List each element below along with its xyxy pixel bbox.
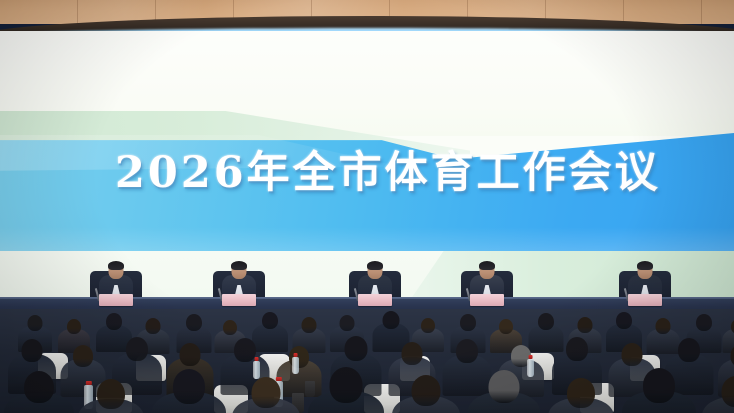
led-backdrop-screen [0, 31, 734, 251]
audience-member-head [301, 317, 316, 333]
audience-member-head [234, 338, 256, 362]
audience-member-head [73, 345, 93, 367]
panelist-hair [231, 261, 247, 270]
audience-member-head [655, 318, 670, 334]
audience-member-head [421, 318, 435, 333]
audience-area [0, 309, 734, 413]
audience-member [548, 378, 614, 413]
name-placard-1 [99, 294, 133, 306]
audience-member-head [577, 317, 592, 333]
audience-member [622, 368, 696, 413]
screen-bottom-glow [0, 227, 734, 251]
audience-member [78, 379, 144, 413]
audience-member-head [330, 367, 363, 403]
audience-member-head [252, 377, 281, 408]
water-bottle [292, 357, 299, 374]
audience-member-head [643, 368, 675, 403]
audience-member-head [179, 343, 200, 366]
name-placard-4 [470, 294, 504, 306]
audience-member-head [223, 320, 237, 335]
conference-photo: 2026年全市体育工作会议 [0, 0, 734, 413]
audience-member-head [456, 339, 478, 363]
audience-member-head [186, 314, 202, 331]
audience-member-head [567, 378, 595, 408]
audience-member-head [489, 370, 520, 403]
audience-member [152, 369, 226, 413]
audience-member-head [22, 339, 43, 362]
audience-member-head [262, 312, 278, 329]
panelist-hair [108, 261, 124, 270]
audience-member-head [696, 314, 712, 331]
name-placard-5 [628, 294, 662, 306]
audience-member [232, 377, 300, 413]
audience-member [468, 370, 540, 413]
audience-member-head [97, 379, 125, 409]
audience-member-head [566, 337, 588, 361]
audience-member-head [106, 313, 122, 330]
conference-title: 2026年全市体育工作会议 [115, 152, 661, 195]
audience-member-head [678, 338, 700, 362]
audience-member-head [621, 343, 642, 366]
name-placard-3 [358, 294, 392, 306]
audience-member-head [126, 337, 148, 361]
panelist-hair [479, 261, 495, 270]
audience-member-head [412, 375, 441, 406]
audience-member-head [67, 319, 81, 334]
audience-member-head [145, 318, 160, 334]
audience-member [4, 371, 74, 413]
name-placard-2 [222, 294, 256, 306]
audience-member-head [340, 315, 355, 331]
audience-member-head [460, 314, 476, 331]
audience-member [308, 367, 384, 413]
panelist-hair [367, 261, 383, 270]
audience-member-head [382, 311, 399, 329]
audience-member-head [173, 369, 205, 404]
audience-member-head [616, 312, 632, 329]
audience-member [702, 376, 734, 413]
audience-member-head [344, 336, 367, 361]
audience-member-head [24, 371, 54, 403]
audience-member [392, 375, 460, 413]
panelist-hair [637, 261, 653, 270]
audience-member-head [401, 342, 422, 365]
audience-member-head [538, 313, 554, 330]
audience-member-head [499, 319, 513, 334]
audience-member-head [28, 315, 43, 331]
